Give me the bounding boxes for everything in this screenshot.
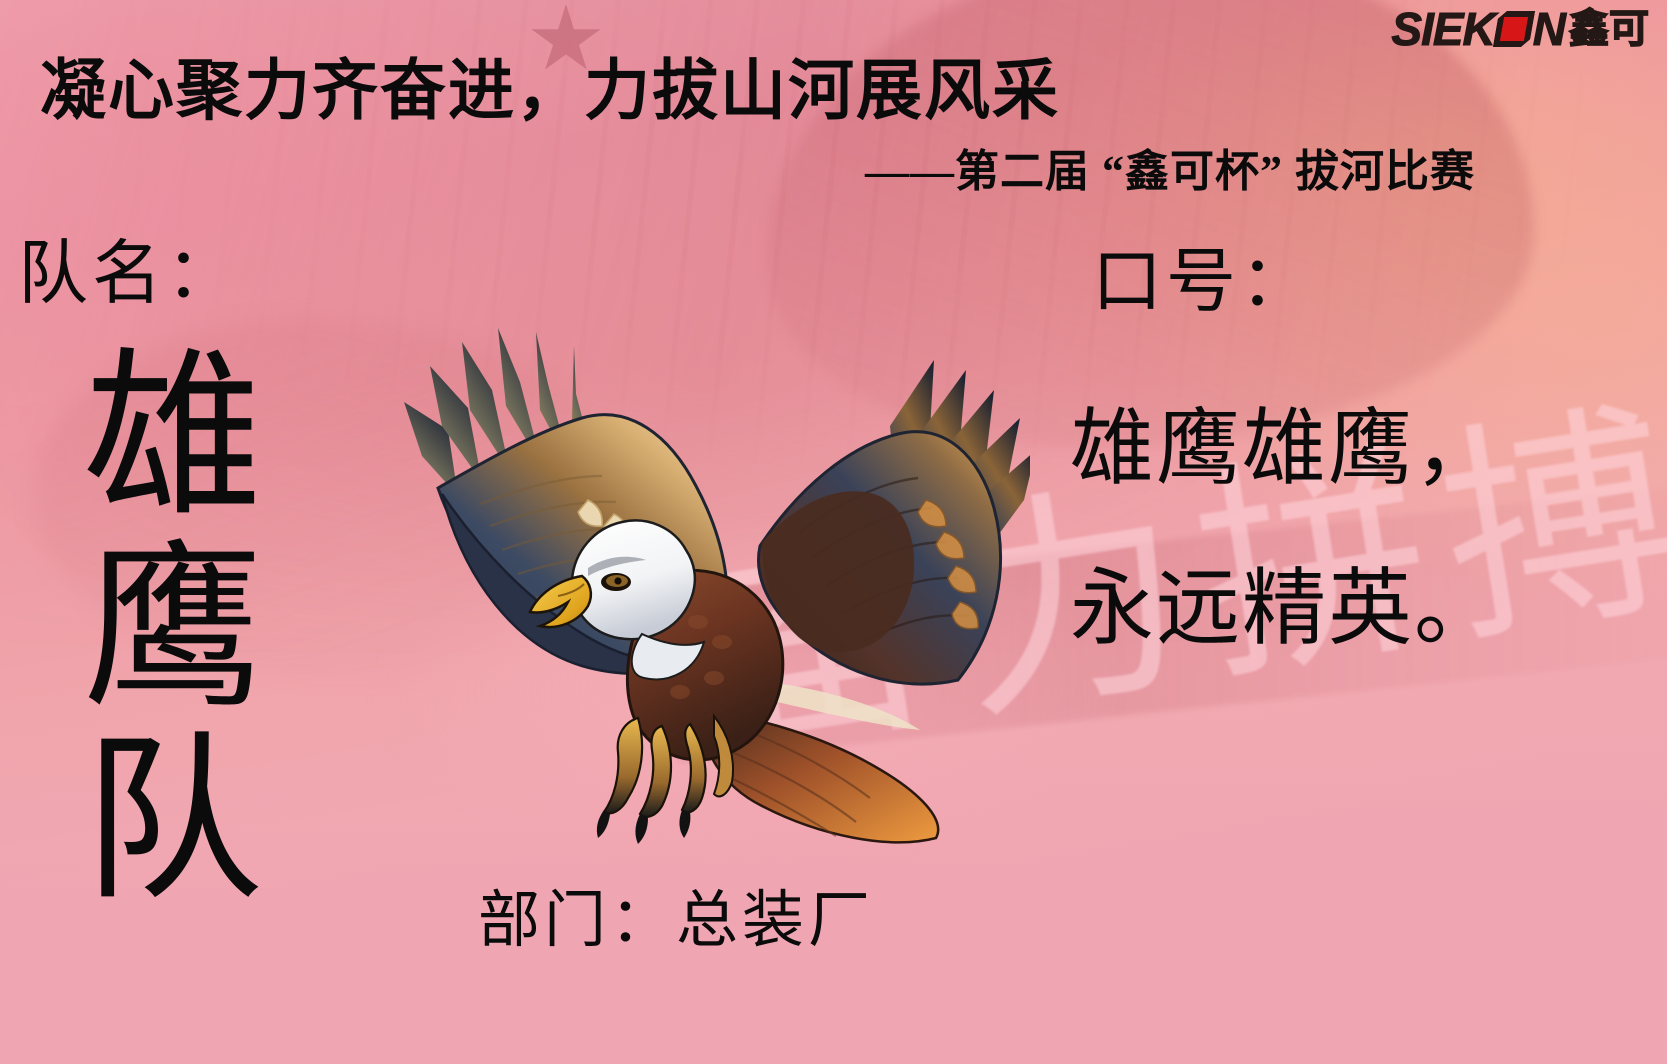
slogan-line: 雄鹰雄鹰， bbox=[1070, 406, 1650, 494]
department-text: 部门：总装厂 bbox=[478, 890, 874, 952]
slogan-line: 永远精英。 bbox=[1070, 566, 1650, 654]
poster-canvas: 奋力拼搏 SIEK N 鑫可 凝心聚力齐奋进，力拔山河展风采 ——第二届 “鑫可… bbox=[0, 0, 1667, 1064]
page-subtitle: ——第二届 “鑫可杯” 拔河比赛 bbox=[865, 148, 1475, 196]
slogan-label: 口号： bbox=[1092, 248, 1314, 318]
logo-chinese: 鑫可 bbox=[1569, 9, 1649, 49]
logo-latin-before: SIEK bbox=[1391, 6, 1494, 52]
team-name-label: 队名： bbox=[18, 240, 240, 310]
logo-latin-after: N bbox=[1533, 6, 1565, 52]
logo-wordmark: SIEK N bbox=[1391, 6, 1565, 52]
slogan-block: 雄鹰雄鹰， 永远精英。 bbox=[1070, 406, 1650, 654]
page-title: 凝心聚力齐奋进，力拔山河展风采 bbox=[40, 58, 1060, 125]
siekon-logo: SIEK N 鑫可 bbox=[1391, 6, 1649, 52]
team-name-value: 雄鹰队 bbox=[54, 340, 256, 980]
logo-o-icon bbox=[1493, 11, 1535, 47]
